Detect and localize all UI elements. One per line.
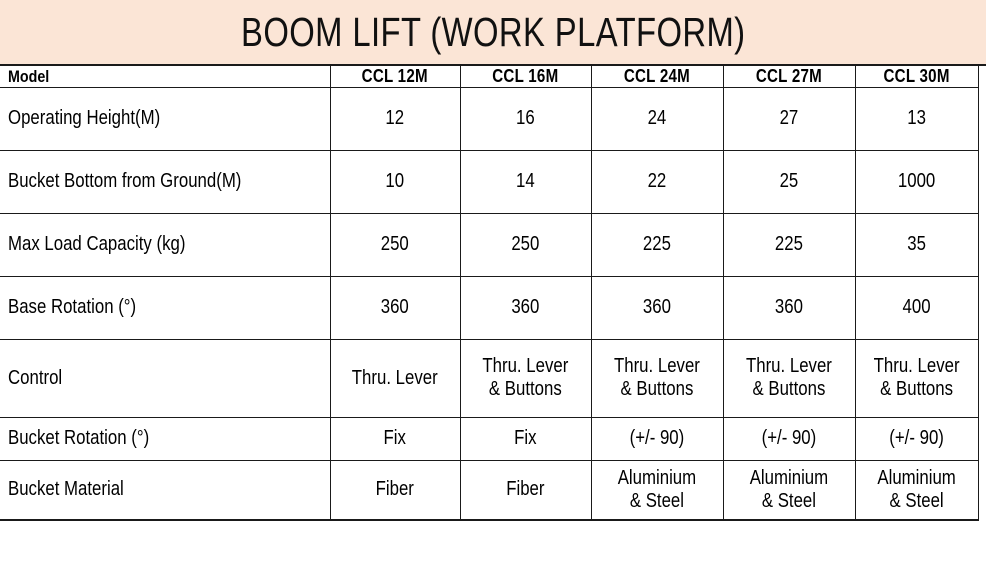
row-label-operating-height: Operating Height(M) (0, 87, 330, 150)
cell-bucket-rotation-ccl-12m: Fix (330, 417, 460, 460)
cell-max-load-ccl-16m: 250 (460, 213, 591, 276)
cell-max-load-ccl-30m: 35 (855, 213, 978, 276)
cell-bucket-bottom-ccl-16m: 14 (460, 150, 591, 213)
cell-base-rotation-ccl-30m: 400 (855, 276, 978, 339)
row-label-bucket-bottom-from-ground: Bucket Bottom from Ground(M) (0, 150, 330, 213)
column-header-ccl-16m: CCL 16M (460, 66, 591, 87)
cell-bucket-bottom-ccl-24m: 22 (591, 150, 723, 213)
specification-table: Model CCL 12M CCL 16M CCL 24M CCL 27M CC… (0, 66, 979, 521)
cell-bucket-rotation-ccl-16m: Fix (460, 417, 591, 460)
row-label-control: Control (0, 339, 330, 417)
cell-bucket-material-ccl-12m: Fiber (330, 460, 460, 520)
cell-control-ccl-12m: Thru. Lever (330, 339, 460, 417)
page-title: BOOM LIFT (WORK PLATFORM) (241, 12, 745, 53)
cell-bucket-material-ccl-30m: Aluminium & Steel (855, 460, 978, 520)
table-header-row: Model CCL 12M CCL 16M CCL 24M CCL 27M CC… (0, 66, 978, 87)
cell-operating-height-ccl-27m: 27 (723, 87, 855, 150)
cell-base-rotation-ccl-12m: 360 (330, 276, 460, 339)
cell-operating-height-ccl-30m: 13 (855, 87, 978, 150)
column-header-ccl-30m: CCL 30M (855, 66, 978, 87)
column-header-ccl-12m: CCL 12M (330, 66, 460, 87)
cell-max-load-ccl-12m: 250 (330, 213, 460, 276)
cell-base-rotation-ccl-16m: 360 (460, 276, 591, 339)
row-label-bucket-material: Bucket Material (0, 460, 330, 520)
cell-max-load-ccl-27m: 225 (723, 213, 855, 276)
cell-control-ccl-30m: Thru. Lever & Buttons (855, 339, 978, 417)
column-header-ccl-24m: CCL 24M (591, 66, 723, 87)
table-body: Operating Height(M) 12 16 24 27 13 (0, 87, 978, 520)
cell-base-rotation-ccl-27m: 360 (723, 276, 855, 339)
table-header: Model CCL 12M CCL 16M CCL 24M CCL 27M CC… (0, 66, 978, 87)
cell-bucket-bottom-ccl-12m: 10 (330, 150, 460, 213)
cell-bucket-material-ccl-27m: Aluminium & Steel (723, 460, 855, 520)
row-label-max-load-capacity: Max Load Capacity (kg) (0, 213, 330, 276)
column-header-ccl-27m: CCL 27M (723, 66, 855, 87)
table-row: Max Load Capacity (kg) 250 250 225 225 3… (0, 213, 978, 276)
cell-control-ccl-16m: Thru. Lever & Buttons (460, 339, 591, 417)
table-row: Bucket Material Fiber Fiber Aluminium & … (0, 460, 978, 520)
cell-bucket-bottom-ccl-27m: 25 (723, 150, 855, 213)
spec-sheet-page: BOOM LIFT (WORK PLATFORM) Model CCL 12M … (0, 0, 986, 563)
table-row: Control Thru. Lever Thru. Lever & Button… (0, 339, 978, 417)
cell-max-load-ccl-24m: 225 (591, 213, 723, 276)
table-row: Bucket Bottom from Ground(M) 10 14 22 25… (0, 150, 978, 213)
table-row: Base Rotation (°) 360 360 360 360 400 (0, 276, 978, 339)
row-label-base-rotation: Base Rotation (°) (0, 276, 330, 339)
cell-bucket-material-ccl-16m: Fiber (460, 460, 591, 520)
cell-base-rotation-ccl-24m: 360 (591, 276, 723, 339)
row-label-bucket-rotation: Bucket Rotation (°) (0, 417, 330, 460)
cell-bucket-bottom-ccl-30m: 1000 (855, 150, 978, 213)
cell-operating-height-ccl-12m: 12 (330, 87, 460, 150)
cell-bucket-rotation-ccl-24m: (+/- 90) (591, 417, 723, 460)
cell-bucket-rotation-ccl-27m: (+/- 90) (723, 417, 855, 460)
column-header-model: Model (0, 66, 330, 87)
cell-control-ccl-27m: Thru. Lever & Buttons (723, 339, 855, 417)
cell-bucket-material-ccl-24m: Aluminium & Steel (591, 460, 723, 520)
title-banner: BOOM LIFT (WORK PLATFORM) (0, 0, 986, 66)
cell-bucket-rotation-ccl-30m: (+/- 90) (855, 417, 978, 460)
cell-operating-height-ccl-16m: 16 (460, 87, 591, 150)
cell-control-ccl-24m: Thru. Lever & Buttons (591, 339, 723, 417)
cell-operating-height-ccl-24m: 24 (591, 87, 723, 150)
table-row: Bucket Rotation (°) Fix Fix (+/- 90) (+/… (0, 417, 978, 460)
table-row: Operating Height(M) 12 16 24 27 13 (0, 87, 978, 150)
